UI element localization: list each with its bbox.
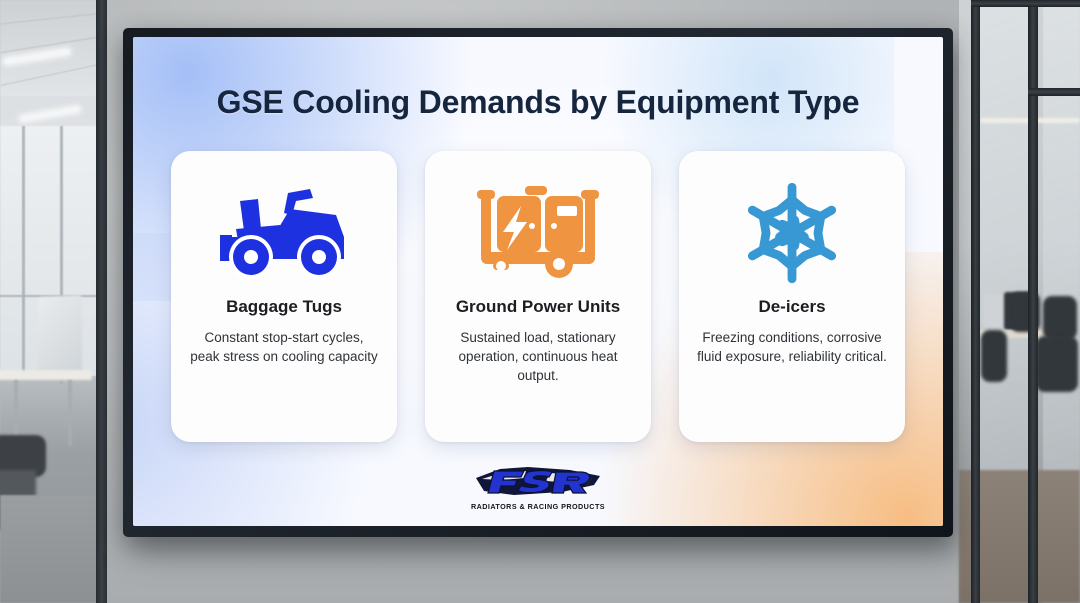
fsr-logo-mark [474,464,602,500]
office-chair [1036,336,1078,392]
office-chair [981,330,1007,382]
card-title: Baggage Tugs [226,297,342,317]
monitor [38,295,82,375]
partition-frame-left [96,0,107,603]
partition-frame [971,0,1080,7]
equipment-card-de-icers[interactable]: De-icers Freezing conditions, corrosive … [679,151,905,442]
office-chair [1043,296,1077,340]
snowflake-icon [740,177,844,289]
display-screen[interactable]: GSE Cooling Demands by Equipment Type [133,37,943,526]
brand-logo: RADIATORS & RACING PRODUCTS [471,464,605,511]
ceiling-light [20,107,80,121]
card-description: Sustained load, stationary operation, co… [443,328,633,385]
partition-frame [971,0,980,603]
partition-frame [1028,88,1080,96]
logo-tagline: RADIATORS & RACING PRODUCTS [471,502,605,511]
window-mullion [22,126,25,376]
card-description: Constant stop-start cycles, peak stress … [189,328,379,366]
floor-left [0,495,104,603]
presentation-slide: GSE Cooling Demands by Equipment Type [133,37,943,526]
generator-cart-icon [475,177,601,289]
equipment-card-baggage-tugs[interactable]: Baggage Tugs Constant stop-start cycles,… [171,151,397,442]
desk [0,370,92,380]
monitor [983,294,1005,328]
left-office-background [0,0,104,603]
desk-leg [68,380,72,446]
card-title: Ground Power Units [456,297,620,317]
card-title: De-icers [758,297,825,317]
baggage-tug-icon [218,177,350,289]
card-description: Freezing conditions, corrosive fluid exp… [697,328,887,366]
wall-mounted-display[interactable]: GSE Cooling Demands by Equipment Type [123,28,953,537]
equipment-card-list: Baggage Tugs Constant stop-start cycles,… [171,151,905,442]
page-title: GSE Cooling Demands by Equipment Type [217,84,860,121]
equipment-card-ground-power-units[interactable]: Ground Power Units Sustained load, stati… [425,151,651,442]
